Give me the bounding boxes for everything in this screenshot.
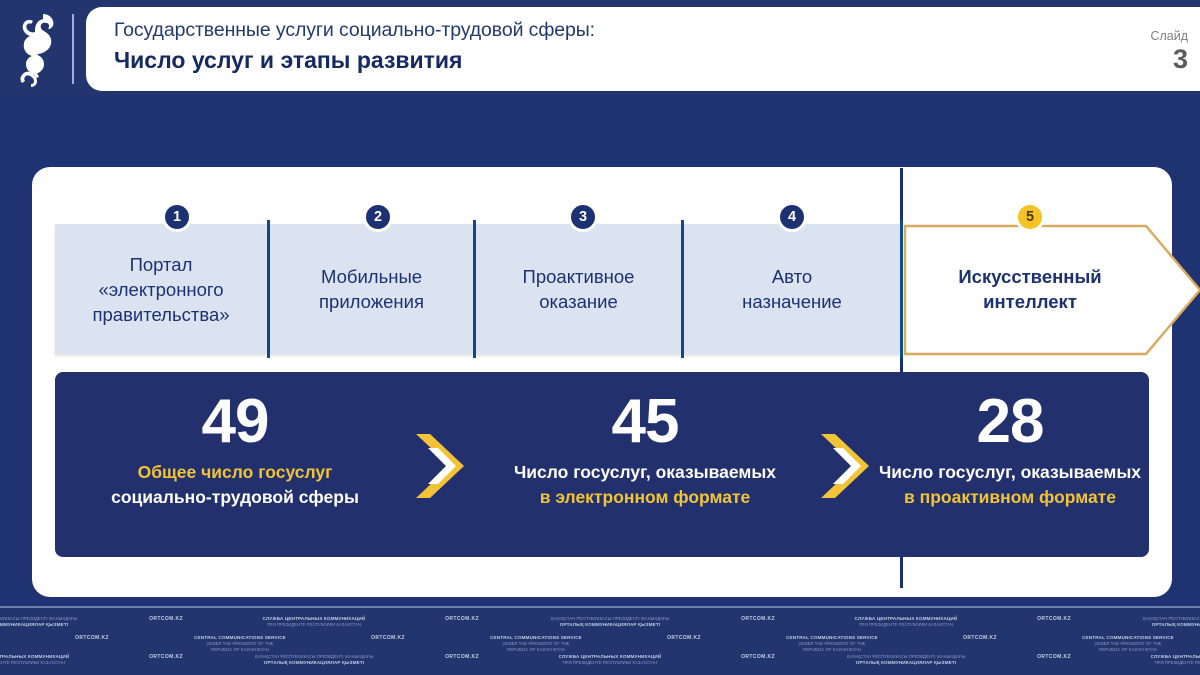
stage-1-line-3: правительства» bbox=[92, 304, 229, 325]
footer-watermark-item: ҚАЗАҚСТАН РЕСПУБЛИКАСЫ ПРЕЗИДЕНТІ ЖАНЫНД… bbox=[550, 616, 670, 628]
stage-5-number-badge: 5 bbox=[1015, 202, 1045, 232]
footer-watermark-item: ORTCOM.KZ bbox=[994, 616, 1114, 622]
footer-watermark-item: CENTRAL COMMUNICATIONS SERVICEUNDER THE … bbox=[772, 635, 892, 652]
header-kicker: Государственные услуги социально-трудово… bbox=[114, 17, 1200, 43]
page-title: Число услуг и этапы развития bbox=[114, 45, 1200, 75]
snow-leopard-emblem-icon bbox=[8, 6, 64, 94]
footer-watermark-item: СЛУЖБА ЦЕНТРАЛЬНЫХ КОММУНИКАЦИЙПРИ ПРЕЗИ… bbox=[254, 616, 374, 628]
footer-watermark-item: СЛУЖБА ЦЕНТРАЛЬНЫХ КОММУНИКАЦИЙПРИ ПРЕЗИ… bbox=[846, 616, 966, 628]
footer-watermark-item: СЛУЖБА ЦЕНТРАЛЬНЫХ КОММУНИКАЦИЙПРИ ПРЕЗИ… bbox=[550, 654, 670, 666]
stat-2-description: Число госуслуг, оказываемых в электронно… bbox=[475, 460, 815, 510]
footer-watermark-item: ҚАЗАҚСТАН РЕСПУБЛИКАСЫ ПРЕЗИДЕНТІ ЖАНЫНД… bbox=[846, 654, 966, 666]
header-divider bbox=[72, 14, 74, 84]
stage-3-line-2: оказание bbox=[539, 291, 617, 312]
footer-watermark-item: CENTRAL COMMUNICATIONS SERVICEUNDER THE … bbox=[476, 635, 596, 652]
stage-4-line-1: Авто bbox=[772, 266, 812, 287]
stage-2-label: Мобильные приложения bbox=[313, 264, 430, 314]
footer-watermark-item: ORTCOM.KZ bbox=[920, 635, 1040, 641]
stage-5-line-2: интеллект bbox=[983, 291, 1077, 312]
stages-row: Портал «электронного правительства» 1 Мо… bbox=[55, 224, 1155, 354]
stat-1-description: Общее число госуслуг социально-трудовой … bbox=[65, 460, 405, 510]
stat-3-desc-white: Число госуслуг, оказываемых bbox=[875, 460, 1145, 485]
sidebar-item-stage-3[interactable]: Проактивное оказание bbox=[476, 224, 681, 354]
stage-5-label: Искусственный интеллект bbox=[921, 264, 1139, 314]
footer-watermark-item: ҚАЗАҚСТАН РЕСПУБЛИКАСЫ ПРЕЗИДЕНТІ ЖАНЫНД… bbox=[254, 654, 374, 666]
stat-1-desc-gold: Общее число госуслуг bbox=[65, 460, 405, 485]
footer-watermark-item: CENTRAL COMMUNICATIONS SERVICEUNDER THE … bbox=[1068, 635, 1188, 652]
stat-card-2: 45 Число госуслуг, оказываемых в электро… bbox=[475, 386, 815, 510]
sidebar-item-stage-5[interactable]: Искусственный интеллект 5 bbox=[903, 224, 1200, 354]
stat-3-desc-gold: в проактивном формате bbox=[875, 485, 1145, 510]
stage-4-number-badge: 4 bbox=[777, 202, 807, 232]
footer-watermark-item: ҚАЗАҚСТАН РЕСПУБЛИКАСЫ ПРЕЗИДЕНТІ ЖАНЫНД… bbox=[0, 616, 78, 628]
footer-watermark-item: ORTCOM.KZ bbox=[624, 635, 744, 641]
stage-3-number-badge: 3 bbox=[568, 202, 598, 232]
footer-watermark-item: ORTCOM.KZ bbox=[994, 654, 1114, 660]
stage-4-line-2: назначение bbox=[742, 291, 842, 312]
stage-2-line-2: приложения bbox=[319, 291, 424, 312]
slide-indicator: Слайд 3 bbox=[1068, 29, 1188, 74]
stat-3-value: 28 bbox=[875, 386, 1145, 458]
slide-number: 3 bbox=[1068, 44, 1188, 74]
sidebar-item-stage-2[interactable]: Мобильные приложения bbox=[270, 224, 473, 354]
footer-watermark-item: ORTCOM.KZ bbox=[32, 635, 152, 641]
footer-watermark-item: ORTCOM.KZ bbox=[328, 635, 448, 641]
content-card: Портал «электронного правительства» 1 Мо… bbox=[32, 167, 1172, 597]
double-chevron-right-icon-1 bbox=[412, 432, 472, 500]
stat-2-desc-white: Число госуслуг, оказываемых bbox=[475, 460, 815, 485]
header-title-panel: Государственные услуги социально-трудово… bbox=[86, 7, 1200, 91]
sidebar-item-stage-1[interactable]: Портал «электронного правительства» bbox=[55, 224, 267, 354]
slide-label: Слайд bbox=[1068, 29, 1188, 43]
footer-watermark-item: ORTCOM.KZ bbox=[698, 654, 818, 660]
stage-2-line-1: Мобильные bbox=[321, 266, 422, 287]
stage-2-number-badge: 2 bbox=[363, 202, 393, 232]
footer-watermark-item: CENTRAL COMMUNICATIONS SERVICEUNDER THE … bbox=[180, 635, 300, 652]
stat-card-1: 49 Общее число госуслуг социально-трудов… bbox=[65, 386, 405, 510]
stage-1-number-badge: 1 bbox=[162, 202, 192, 232]
stage-1-label: Портал «электронного правительства» bbox=[86, 252, 235, 327]
footer-watermark-item: ORTCOM.KZ bbox=[106, 654, 226, 660]
footer-watermark-item: СЛУЖБА ЦЕНТРАЛЬНЫХ КОММУНИКАЦИЙПРИ ПРЕЗИ… bbox=[0, 654, 78, 666]
slide-header: Государственные услуги социально-трудово… bbox=[0, 0, 1200, 97]
stage-3-label: Проактивное оказание bbox=[517, 264, 641, 314]
footer-watermark-item: ҚАЗАҚСТАН РЕСПУБЛИКАСЫ ПРЕЗИДЕНТІ ЖАНЫНД… bbox=[1142, 616, 1200, 628]
footer-watermark-grid: ҚАЗАҚСТАН РЕСПУБЛИКАСЫ ПРЕЗИДЕНТІ ЖАНЫНД… bbox=[0, 608, 1200, 673]
stage-3-line-1: Проактивное bbox=[523, 266, 635, 287]
stat-2-value: 45 bbox=[475, 386, 815, 458]
sidebar-item-stage-4[interactable]: Авто назначение bbox=[684, 224, 900, 354]
stage-4-label: Авто назначение bbox=[736, 264, 848, 314]
stat-1-value: 49 bbox=[65, 386, 405, 458]
stat-3-description: Число госуслуг, оказываемых в проактивно… bbox=[875, 460, 1145, 510]
footer-watermark-item: ORTCOM.KZ bbox=[698, 616, 818, 622]
statistics-panel: 49 Общее число госуслуг социально-трудов… bbox=[55, 372, 1149, 557]
stat-1-desc-white: социально-трудовой сферы bbox=[65, 485, 405, 510]
double-chevron-right-icon-2 bbox=[817, 432, 877, 500]
stage-5-line-1: Искусственный bbox=[958, 266, 1101, 287]
footer-watermark-item: СЛУЖБА ЦЕНТРАЛЬНЫХ КОММУНИКАЦИЙПРИ ПРЕЗИ… bbox=[1142, 654, 1200, 666]
footer-watermark-item: ORTCOM.KZ bbox=[402, 616, 522, 622]
footer-watermark-item: ORTCOM.KZ bbox=[402, 654, 522, 660]
footer-watermark-band: ҚАЗАҚСТАН РЕСПУБЛИКАСЫ ПРЕЗИДЕНТІ ЖАНЫНД… bbox=[0, 606, 1200, 675]
footer-watermark-item: ORTCOM.KZ bbox=[106, 616, 226, 622]
stage-1-line-1: Портал bbox=[130, 254, 193, 275]
stat-2-desc-gold: в электронном формате bbox=[475, 485, 815, 510]
stage-1-line-2: «электронного bbox=[98, 279, 223, 300]
stat-card-3: 28 Число госуслуг, оказываемых в проакти… bbox=[875, 386, 1145, 510]
